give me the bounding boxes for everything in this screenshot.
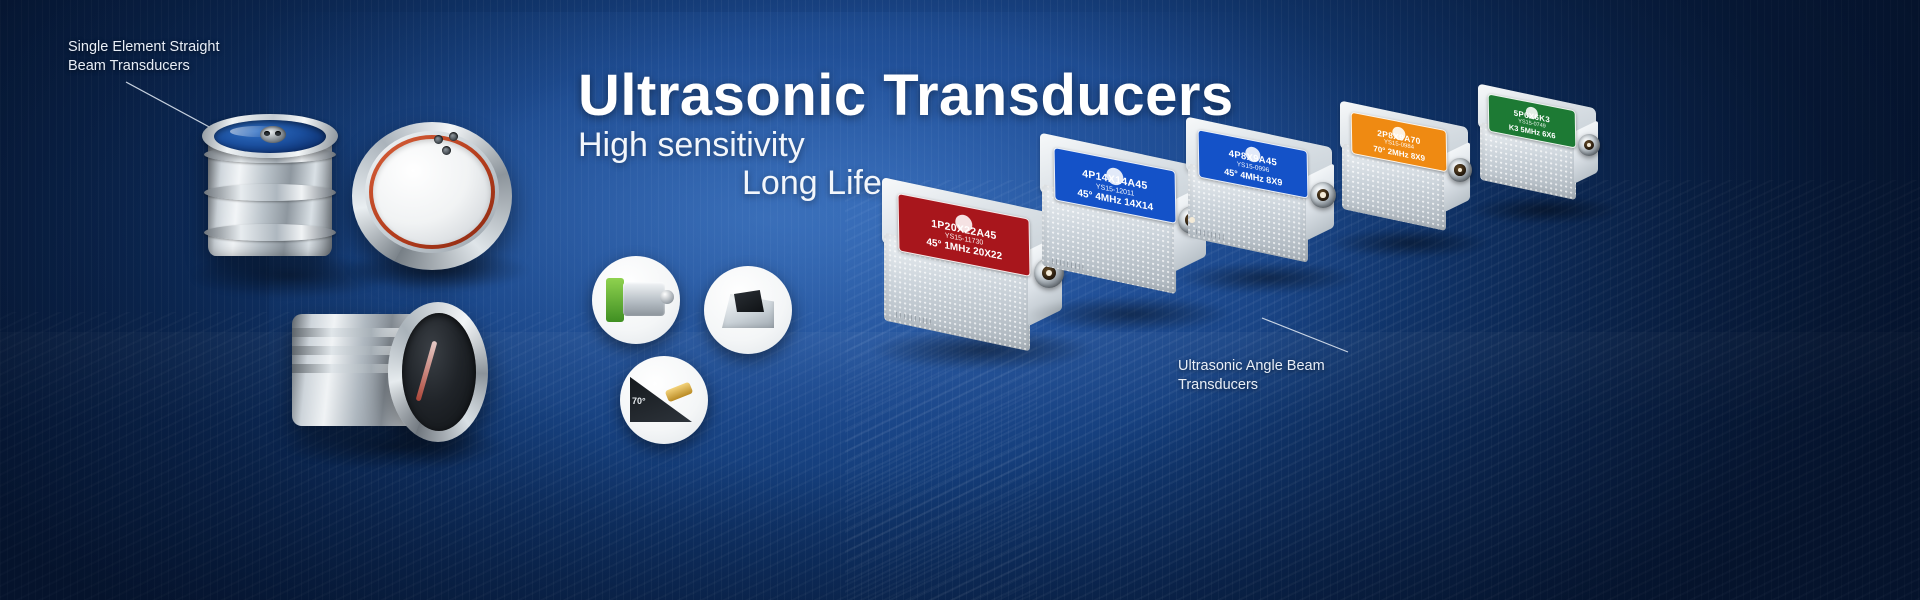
- angle-probe-3-connector: [1310, 182, 1336, 208]
- angle-beam-probe-5: 5P6X6K3 YS15-0749 K3 5MHz 6X6: [1478, 96, 1618, 212]
- straight-beam-probe-black-face: [292, 302, 488, 454]
- thumb1-connector: [660, 290, 674, 304]
- angle-probe-4-connector: [1448, 158, 1472, 182]
- probe2-connector-holes: [432, 132, 472, 158]
- thumb1-green-body: [606, 278, 624, 322]
- ultrasonic-transducers-banner: Single Element Straight Beam Transducers…: [0, 0, 1920, 600]
- callout-angle-beam-line2: Transducers: [1178, 376, 1325, 395]
- straight-beam-probe-white-face: [352, 118, 522, 278]
- callout-angle-beam-line1: Ultrasonic Angle Beam: [1178, 357, 1325, 376]
- thumbnail-clear-wedge-transducer: [704, 266, 792, 354]
- thumbnail-green-body-transducer: [592, 256, 680, 344]
- angle-beam-probe-4: 2P8X9A70 YS15-0984 70° 2MHz 8X9: [1340, 114, 1490, 240]
- probe1-ring: [204, 224, 336, 241]
- callout-angle-beam: Ultrasonic Angle Beam Transducers: [1178, 357, 1325, 395]
- straight-beam-probe-blue-face: [196, 106, 374, 278]
- callout-straight-beam-line2: Beam Transducers: [68, 57, 220, 76]
- thumb3-angle-label: 70°: [632, 396, 646, 406]
- probe1-connector: [260, 126, 286, 143]
- thumbnail-angle-wedge-transducer: 70°: [620, 356, 708, 444]
- thumb2-black-element: [734, 290, 764, 312]
- probe1-ring: [204, 184, 336, 201]
- angle-beam-probe-3: 4P8X9A45 YS15-0996 45° 4MHz 8X9 | | | | …: [1186, 132, 1356, 272]
- callout-straight-beam-line1: Single Element Straight: [68, 38, 220, 57]
- angle-probe-2-shadow: [1030, 296, 1230, 332]
- subtitle-high-sensitivity: High sensitivity: [578, 126, 805, 165]
- callout-straight-beam: Single Element Straight Beam Transducers: [68, 38, 220, 76]
- angle-probe-5-connector: [1578, 134, 1600, 156]
- subtitle-long-life: Long Life: [742, 164, 882, 203]
- probe3-black-face: [402, 313, 476, 431]
- thumb3-gold-connector: [665, 382, 694, 403]
- page-title: Ultrasonic Transducers: [578, 62, 1234, 129]
- thumb1-silver-housing: [623, 282, 665, 316]
